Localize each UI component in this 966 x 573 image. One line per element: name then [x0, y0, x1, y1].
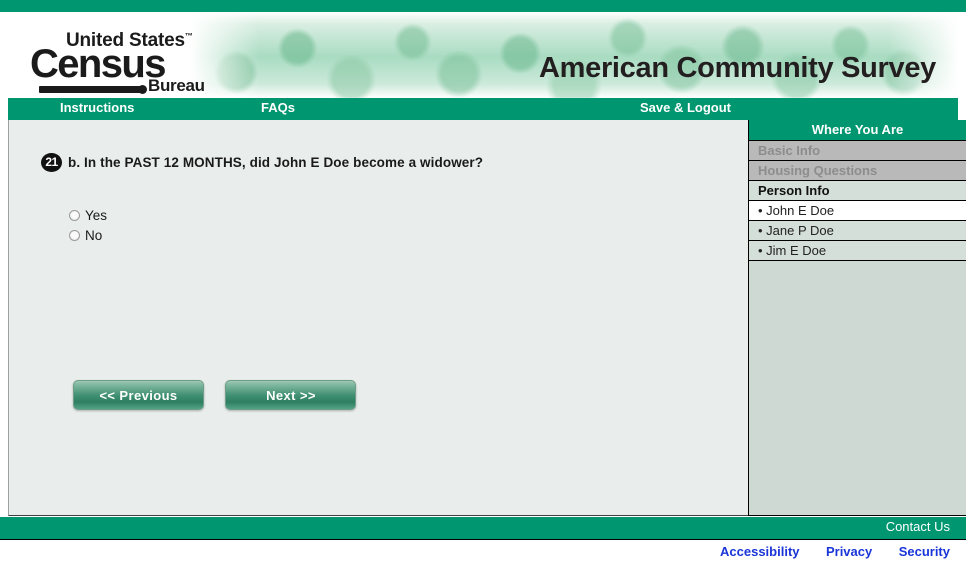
sidebar-header: Where You Are [749, 120, 966, 141]
sidebar-item-basic-info: Basic Info [749, 141, 966, 161]
question-number-badge: 21 [41, 153, 62, 172]
previous-button[interactable]: << Previous [73, 380, 204, 410]
footer-bar: Contact Us [0, 517, 966, 540]
next-button[interactable]: Next >> [225, 380, 356, 410]
question-row: 21b. In the PAST 12 MONTHS, did John E D… [41, 153, 731, 172]
footer-link-accessibility[interactable]: Accessibility [720, 544, 800, 559]
census-bureau-logo: United States™ Census Bureau [30, 30, 190, 92]
sidebar-item-housing-questions: Housing Questions [749, 161, 966, 181]
logo-bureau: Bureau [148, 76, 205, 96]
trademark-icon: ™ [185, 32, 193, 41]
footer-links: Accessibility Privacy Security [0, 543, 966, 563]
contact-us-link[interactable]: Contact Us [886, 519, 950, 534]
sidebar-item-john-e-doe[interactable]: • John E Doe [749, 201, 966, 221]
top-navigation-bar: Instructions FAQs Save & Logout [8, 98, 958, 120]
navigation-buttons: << Previous Next >> [73, 380, 356, 410]
nav-item-save-and-logout[interactable]: Save & Logout [640, 100, 731, 115]
logo-census: Census [30, 44, 165, 84]
footer-link-privacy[interactable]: Privacy [826, 544, 872, 559]
sidebar-item-jim-e-doe[interactable]: • Jim E Doe [749, 241, 966, 261]
sidebar-section-person-info: Person Info [749, 181, 966, 201]
radio-yes-icon[interactable] [69, 210, 80, 221]
survey-page: United States™ Census Bureau American Co… [0, 0, 966, 573]
answer-options-group: Yes No [69, 208, 107, 248]
option-yes-label: Yes [85, 208, 107, 223]
where-you-are-sidebar: Where You Are Basic Info Housing Questio… [748, 120, 966, 516]
question-text: b. In the PAST 12 MONTHS, did John E Doe… [68, 155, 483, 170]
option-no-label: No [85, 228, 102, 243]
question-content-panel: 21b. In the PAST 12 MONTHS, did John E D… [8, 120, 748, 516]
radio-no-icon[interactable] [69, 230, 80, 241]
nav-item-faqs[interactable]: FAQs [261, 100, 295, 115]
sidebar-item-jane-p-doe[interactable]: • Jane P Doe [749, 221, 966, 241]
masthead-banner: United States™ Census Bureau American Co… [8, 12, 958, 98]
option-yes[interactable]: Yes [69, 208, 107, 224]
logo-bar-icon [39, 86, 142, 93]
nav-item-instructions[interactable]: Instructions [60, 100, 134, 115]
page-title: American Community Survey [539, 52, 936, 85]
option-no[interactable]: No [69, 228, 107, 244]
top-green-strip [0, 0, 966, 12]
footer-link-security[interactable]: Security [899, 544, 950, 559]
